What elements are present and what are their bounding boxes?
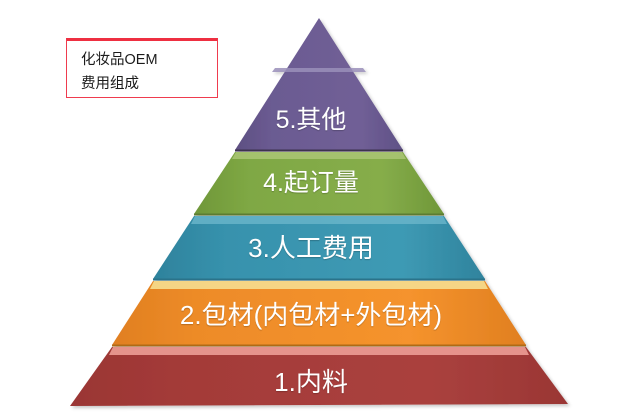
pyramid-level-1[interactable] bbox=[70, 346, 568, 407]
pyramid-level-5-top-face bbox=[272, 68, 366, 72]
pyramid-level-3[interactable] bbox=[153, 215, 485, 280]
pyramid-level-1-body bbox=[70, 347, 568, 406]
pyramid-level-4-top-face bbox=[232, 152, 406, 159]
pyramid-level-4[interactable] bbox=[194, 151, 444, 215]
pyramid-level-1-top-face bbox=[109, 347, 529, 355]
caption-line-1: 化妆品OEM bbox=[81, 48, 217, 72]
pyramid-level-2-top-face bbox=[150, 281, 488, 289]
pyramid-level-3-top-face bbox=[191, 216, 447, 224]
pyramid-level-2-body bbox=[112, 281, 526, 345]
pyramid-level-4-body bbox=[194, 152, 444, 214]
pyramid-level-5[interactable] bbox=[235, 18, 403, 150]
pyramid-level-2[interactable] bbox=[112, 280, 526, 346]
caption-box: 化妆品OEM 费用组成 bbox=[66, 38, 218, 98]
pyramid-level-3-body bbox=[153, 216, 485, 279]
caption-line-2: 费用组成 bbox=[81, 72, 217, 96]
pyramid-level-5-body bbox=[235, 18, 403, 150]
pyramid-diagram-canvas: 5.其他 4.起订量 3.人工费用 2.包材(内包材+外包材) 1.内料 化妆品… bbox=[0, 0, 622, 418]
